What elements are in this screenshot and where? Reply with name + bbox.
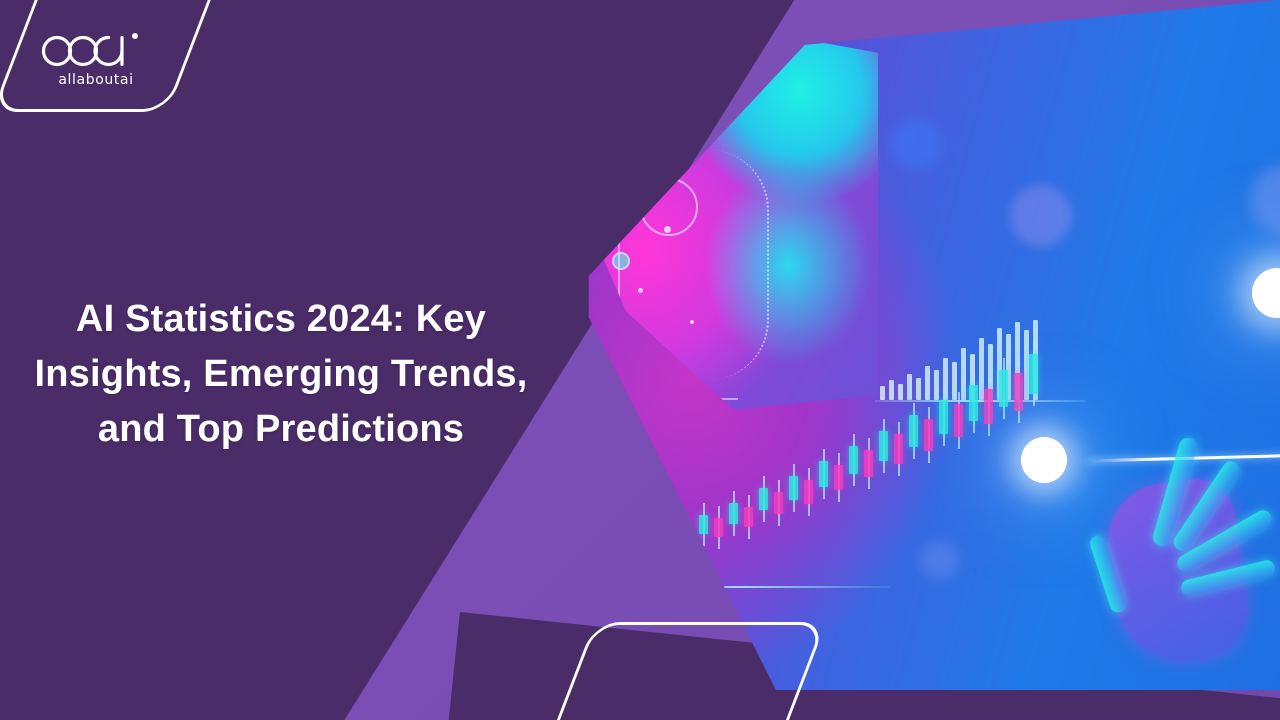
bar-graph-baseline	[875, 400, 1085, 402]
spark-dot-icon	[638, 288, 643, 293]
candlestick-body	[999, 370, 1008, 408]
candlestick-body	[879, 431, 888, 461]
candlestick-body	[894, 434, 903, 463]
candlestick-body	[849, 446, 858, 474]
candlestick-body	[969, 385, 978, 421]
candlestick-body	[954, 404, 963, 437]
candlestick-body	[804, 480, 813, 504]
candlestick-body	[834, 465, 843, 491]
logo-wordmark: allaboutai	[40, 72, 152, 88]
candlestick-body	[1014, 373, 1023, 410]
candlestick-body	[774, 492, 783, 514]
candlestick-body	[984, 389, 993, 424]
candlestick-body	[819, 461, 828, 487]
candlestick-body	[729, 503, 738, 524]
candlestick-body	[939, 400, 948, 434]
bokeh-circle-icon	[1010, 185, 1072, 247]
glowing-orb-icon	[1021, 437, 1067, 483]
candlestick-body	[924, 419, 933, 450]
hero-banner: allaboutai AI Statistics 2024: Key Insig…	[0, 0, 1280, 720]
spark-dot-icon	[664, 226, 671, 233]
page-title: AI Statistics 2024: Key Insights, Emergi…	[26, 292, 536, 457]
candlestick-body	[1029, 354, 1038, 394]
candlestick-body	[864, 450, 873, 477]
bokeh-circle-icon	[890, 118, 942, 170]
neon-hand	[1094, 430, 1280, 690]
candlestick-body	[759, 488, 768, 511]
candlestick-body	[699, 515, 708, 534]
candlestick-body	[909, 415, 918, 447]
logo[interactable]: allaboutai	[40, 28, 152, 88]
candlestick-body	[744, 507, 753, 527]
aaa-monogram-icon	[40, 28, 144, 68]
candlestick-body	[714, 518, 723, 537]
candlestick-body	[789, 476, 798, 500]
